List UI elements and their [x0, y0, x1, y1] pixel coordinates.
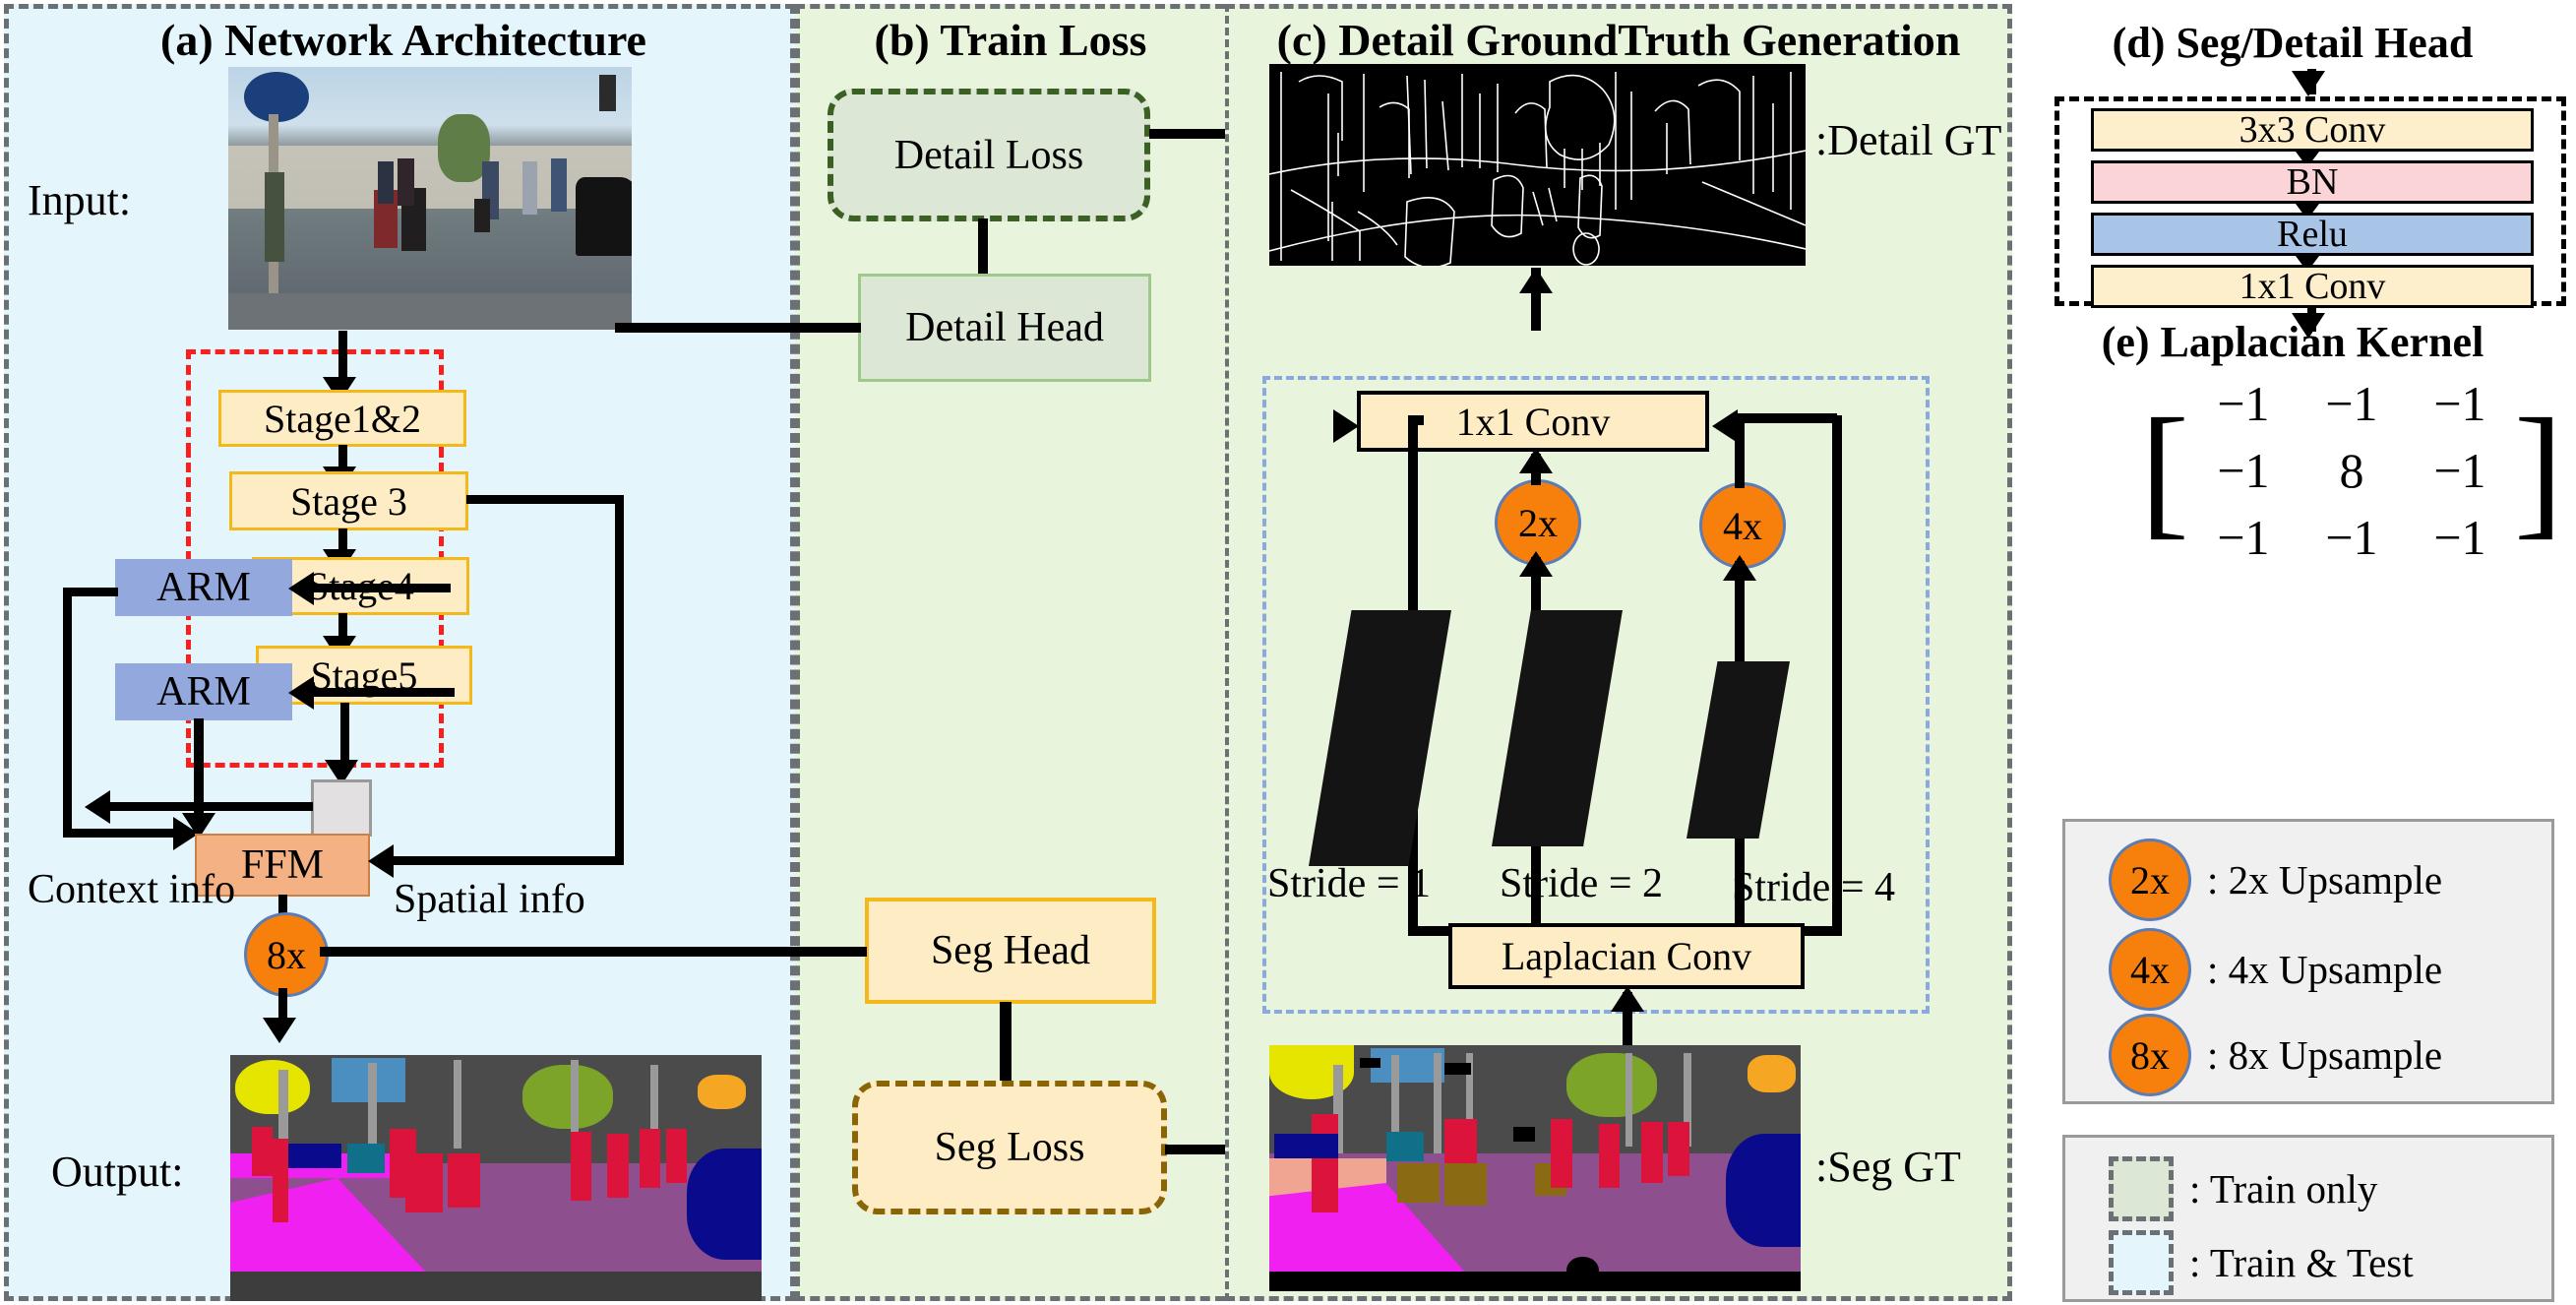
bracket-left-icon: [: [2140, 411, 2189, 529]
edge-arm1-rail-v: [63, 588, 72, 838]
upsample-2x-label: 2x: [1518, 500, 1558, 546]
laplacian-kernel-matrix: [ −1 −1 −1 −1 8 −1 −1 −1 −1 ]: [2140, 370, 2563, 571]
arm-block-2[interactable]: ARM: [115, 663, 292, 720]
legend-badge-4x-label: 4x: [2130, 947, 2170, 993]
seg-loss-label: Seg Loss: [935, 1124, 1085, 1171]
kernel-cell-1-1: 8: [2298, 437, 2406, 504]
legend-swatch-train-and-test: [2109, 1230, 2174, 1295]
stage1-2-label: Stage1&2: [264, 396, 421, 442]
kernel-cell-0-2: −1: [2406, 370, 2514, 437]
panel-e-title: (e) Laplacian Kernel: [2027, 317, 2558, 367]
ffm-label: FFM: [241, 841, 324, 889]
edge-arm1-rail-h-top: [63, 588, 118, 596]
seg-gt-caption: :Seg GT: [1815, 1142, 1961, 1192]
stride-4-label: Stride = 4: [1732, 864, 1895, 911]
stage3-block[interactable]: Stage 3: [229, 471, 468, 530]
laplacian-conv-label: Laplacian Conv: [1502, 933, 1751, 979]
input-image: [228, 67, 632, 330]
laplacian-conv-block[interactable]: Laplacian Conv: [1448, 923, 1805, 989]
arm-block-1[interactable]: ARM: [115, 559, 292, 616]
head-layer-relu[interactable]: Relu: [2091, 213, 2534, 256]
arrowhead-into-head: [2292, 71, 2325, 96]
output-label: Output:: [51, 1147, 183, 1197]
stride-1-label: Stride = 1: [1267, 860, 1431, 907]
legend-text-train-and-test: : Train & Test: [2189, 1239, 2414, 1286]
arrowhead-8x-to-output: [263, 1018, 296, 1043]
edge-4x-to-rail: [1735, 453, 1745, 488]
arrowhead-2x-to-conv: [1519, 448, 1553, 473]
edge-stride4-rail-v: [1832, 415, 1842, 931]
arrowhead-stride1-into-conv: [1333, 409, 1359, 443]
output-segmentation-image: [230, 1055, 762, 1301]
stage3-label: Stage 3: [290, 478, 407, 525]
global-pool-block[interactable]: [311, 779, 372, 837]
legend-row-4x: 4x : 4x Upsample: [2109, 928, 2442, 1011]
legend-text-train-only: : Train only: [2189, 1165, 2377, 1212]
edge-stage5-arm2: [313, 688, 455, 697]
edge-input-to-stage12: [338, 331, 347, 382]
edge-stage3-spatial-h: [466, 495, 624, 504]
kernel-cell-1-2: −1: [2406, 437, 2514, 504]
panel-b-title: (b) Train Loss: [799, 14, 1222, 66]
panel-c-title: (c) Detail GroundTruth Generation: [1230, 14, 2007, 66]
legend-row-train-and-test: : Train & Test: [2109, 1230, 2414, 1295]
arrowhead-stage4-arm1: [288, 572, 314, 605]
arrowhead-seg-gt-to-laplacian: [1611, 986, 1644, 1012]
detail-loss-label: Detail Loss: [894, 132, 1083, 179]
edge-arm1-rail-h-bottom: [63, 829, 189, 838]
arm-2-label: ARM: [156, 668, 251, 715]
conv-1x1-label: 1x1 Conv: [1456, 399, 1611, 445]
kernel-cell-2-0: −1: [2189, 504, 2298, 571]
panel-a-title: (a) Network Architecture: [89, 14, 718, 66]
legend-row-8x: 8x : 8x Upsample: [2109, 1014, 2442, 1096]
edge-spatial-v: [615, 495, 624, 864]
legend-row-2x: 2x : 2x Upsample: [2109, 839, 2442, 921]
upsample-8x-circle[interactable]: 8x: [244, 912, 329, 997]
kernel-cell-0-0: −1: [2189, 370, 2298, 437]
arrowhead-conv1x1-to-detail-gt: [1519, 268, 1553, 293]
edge-4x-rail-h: [1735, 413, 1837, 423]
detail-loss-block[interactable]: Detail Loss: [828, 89, 1150, 221]
panel-d-title: (d) Seg/Detail Head: [2027, 18, 2558, 68]
spatial-info-label: Spatial info: [394, 876, 585, 923]
detail-gt-caption: :Detail GT: [1815, 115, 2001, 165]
kernel-cell-1-0: −1: [2189, 437, 2298, 504]
arrowhead-gray-left: [85, 790, 110, 824]
arrowhead-fm3-to-4x: [1723, 555, 1756, 581]
bracket-right-icon: ]: [2514, 411, 2563, 529]
arrowhead-fm2-to-2x: [1519, 551, 1553, 577]
edge-stage5-to-gray: [340, 703, 349, 768]
kernel-cell-0-1: −1: [2298, 370, 2406, 437]
edge-4x-rail-v2: [1735, 413, 1745, 455]
arrowhead-spatial-to-ffm: [368, 844, 394, 878]
legend-row-train-only: : Train only: [2109, 1156, 2377, 1221]
detail-head-label: Detail Head: [905, 304, 1104, 351]
legend-badge-8x: 8x: [2109, 1014, 2191, 1096]
seg-head-label: Seg Head: [931, 927, 1090, 974]
edge-stride1-top-h: [1408, 415, 1424, 425]
head-layer-3x3-conv-label: 3x3 Conv: [2239, 108, 2386, 152]
head-layer-bn-label: BN: [2287, 160, 2339, 204]
edge-seg-head-to-loss: [1000, 1002, 1012, 1085]
input-label: Input:: [28, 175, 131, 225]
head-layer-1x1-conv-label: 1x1 Conv: [2239, 265, 2386, 308]
seg-loss-block[interactable]: Seg Loss: [852, 1081, 1167, 1214]
edge-gray-left: [108, 802, 313, 811]
edge-spatial-to-ffm: [392, 856, 624, 865]
arrowhead-stage5-arm2: [288, 676, 314, 710]
kernel-cell-2-1: −1: [2298, 504, 2406, 571]
legend-text-4x: : 4x Upsample: [2207, 946, 2442, 993]
kernel-cell-2-2: −1: [2406, 504, 2514, 571]
legend-badge-2x-label: 2x: [2130, 857, 2170, 903]
legend-text-8x: : 8x Upsample: [2207, 1031, 2442, 1079]
context-info-label: Context info: [28, 866, 235, 913]
upsample-8x-label: 8x: [267, 932, 306, 978]
edge-8x-to-seg-head: [320, 947, 867, 957]
head-layer-bn[interactable]: BN: [2091, 160, 2534, 204]
stage1-2-block[interactable]: Stage1&2: [218, 390, 466, 447]
head-layer-1x1-conv[interactable]: 1x1 Conv: [2091, 265, 2534, 308]
head-layer-relu-label: Relu: [2277, 213, 2348, 256]
legend-badge-8x-label: 8x: [2130, 1032, 2170, 1079]
seg-gt-image: [1269, 1045, 1801, 1291]
upsample-4x-label: 4x: [1723, 503, 1762, 549]
detail-head-block[interactable]: Detail Head: [858, 274, 1151, 382]
legend-badge-2x: 2x: [2109, 839, 2191, 921]
seg-head-block[interactable]: Seg Head: [865, 898, 1156, 1004]
stride-2-label: Stride = 2: [1500, 860, 1663, 907]
detail-gt-image: [1269, 64, 1806, 266]
head-layer-3x3-conv[interactable]: 3x3 Conv: [2091, 108, 2534, 152]
arm-1-label: ARM: [156, 564, 251, 611]
legend-text-2x: : 2x Upsample: [2207, 856, 2442, 903]
edge-stage3-to-detail-head: [615, 323, 861, 333]
legend-badge-4x: 4x: [2109, 928, 2191, 1011]
legend-swatch-train-only: [2109, 1156, 2174, 1221]
edge-stage4-arm1: [313, 584, 451, 592]
